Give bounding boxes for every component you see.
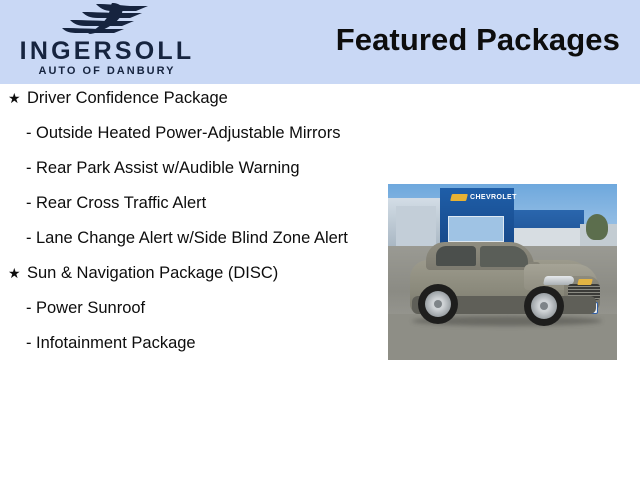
- package-feature-label: Rear Park Assist w/Audible Warning: [36, 158, 380, 179]
- dealer-logo: INGERSOLL AUTO OF DANBURY: [0, 0, 210, 84]
- vehicle-photo: CHEVROLET: [388, 184, 617, 360]
- chevrolet-bowtie-icon: [450, 194, 468, 201]
- package-feature-row: -Lane Change Alert w/Side Blind Zone Ale…: [0, 228, 380, 249]
- star-bullet-icon: ★: [8, 88, 27, 109]
- vehicle-rear-wheel: [418, 284, 458, 324]
- vehicle-front-wheel: [524, 286, 564, 326]
- ingersoll-wing-emblem-icon: [52, 2, 162, 36]
- dash-bullet-icon: -: [26, 193, 36, 214]
- vehicle-front-window: [480, 246, 528, 267]
- vehicle-front-rim: [531, 293, 557, 319]
- dash-bullet-icon: -: [26, 333, 36, 354]
- package-feature-label: Outside Heated Power-Adjustable Mirrors: [36, 123, 380, 144]
- dealership-sign-text: CHEVROLET: [470, 193, 517, 202]
- star-bullet-icon: ★: [8, 263, 27, 284]
- package-feature-row: -Outside Heated Power-Adjustable Mirrors: [0, 123, 380, 144]
- vehicle-rear-window: [436, 246, 476, 266]
- dash-bullet-icon: -: [26, 228, 36, 249]
- package-feature-row: -Rear Park Assist w/Audible Warning: [0, 158, 380, 179]
- dealership-building-left-inner: [396, 206, 436, 246]
- package-heading-label: Sun & Navigation Package (DISC): [27, 263, 380, 284]
- package-feature-row: -Power Sunroof: [0, 298, 380, 319]
- package-heading-row: ★Sun & Navigation Package (DISC): [0, 263, 380, 284]
- package-heading-row: ★Driver Confidence Package: [0, 88, 380, 109]
- brand-tagline: AUTO OF DANBURY: [12, 65, 202, 77]
- page-title: Featured Packages: [336, 22, 620, 58]
- dealership-tower-window: [448, 216, 504, 242]
- package-feature-label: Infotainment Package: [36, 333, 380, 354]
- tree: [586, 214, 608, 240]
- dash-bullet-icon: -: [26, 298, 36, 319]
- package-feature-label: Rear Cross Traffic Alert: [36, 193, 380, 214]
- package-feature-row: -Rear Cross Traffic Alert: [0, 193, 380, 214]
- package-feature-label: Lane Change Alert w/Side Blind Zone Aler…: [36, 228, 380, 249]
- package-heading-label: Driver Confidence Package: [27, 88, 380, 109]
- dash-bullet-icon: -: [26, 123, 36, 144]
- vehicle-bowtie-icon: [577, 279, 592, 285]
- package-feature-label: Power Sunroof: [36, 298, 380, 319]
- package-feature-row: -Infotainment Package: [0, 333, 380, 354]
- brand-name: INGERSOLL: [12, 38, 202, 64]
- dash-bullet-icon: -: [26, 158, 36, 179]
- header-band: INGERSOLL AUTO OF DANBURY Featured Packa…: [0, 0, 640, 84]
- feature-list: ★Driver Confidence Package-Outside Heate…: [0, 88, 380, 368]
- vehicle-rear-rim: [425, 291, 451, 317]
